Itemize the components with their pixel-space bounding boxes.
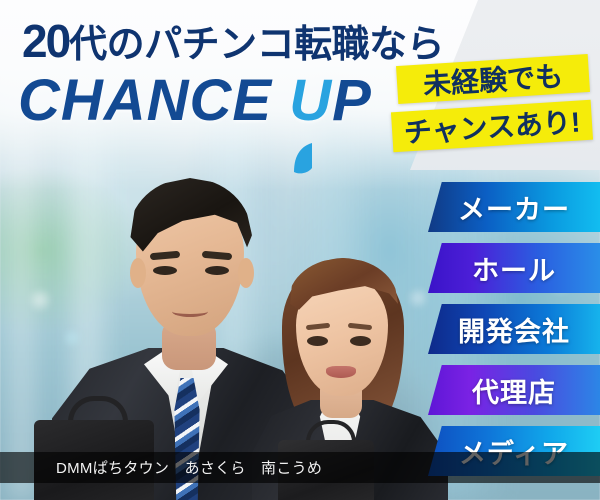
man-eye-left bbox=[153, 266, 177, 275]
man-eye-right bbox=[205, 266, 229, 275]
category-button-hall[interactable]: ホール bbox=[428, 243, 600, 293]
woman-mouth bbox=[326, 366, 356, 378]
woman-eye-right bbox=[350, 336, 371, 346]
advertisement-banner[interactable]: 20代のパチンコ転職なら CHANCE UP 未経験でも チャンスあり! メーカ… bbox=[0, 0, 600, 500]
woman-eye-left bbox=[307, 336, 328, 346]
category-button-agency[interactable]: 代理店 bbox=[428, 365, 600, 415]
man-ear-left bbox=[130, 258, 146, 288]
logo-letter-u: U bbox=[289, 72, 332, 130]
chance-up-logo: CHANCE UP bbox=[18, 72, 372, 130]
headline-rest: 代のパチンコ転職なら bbox=[69, 24, 444, 66]
headline-number: 20 bbox=[22, 15, 69, 67]
category-button-developer[interactable]: 開発会社 bbox=[428, 304, 600, 354]
logo-letter-p: P bbox=[332, 68, 372, 133]
headline-text: 20代のパチンコ転職なら bbox=[22, 18, 444, 64]
logo-text-chance: CHANCE bbox=[18, 68, 289, 133]
credit-text: DMMぱちタウン あさくら 南こうめ bbox=[0, 457, 322, 478]
credit-bar: DMMぱちタウン あさくら 南こうめ bbox=[0, 452, 600, 483]
man-mouth bbox=[172, 306, 208, 317]
category-button-maker[interactable]: メーカー bbox=[428, 182, 600, 232]
man-ear-right bbox=[238, 258, 254, 288]
